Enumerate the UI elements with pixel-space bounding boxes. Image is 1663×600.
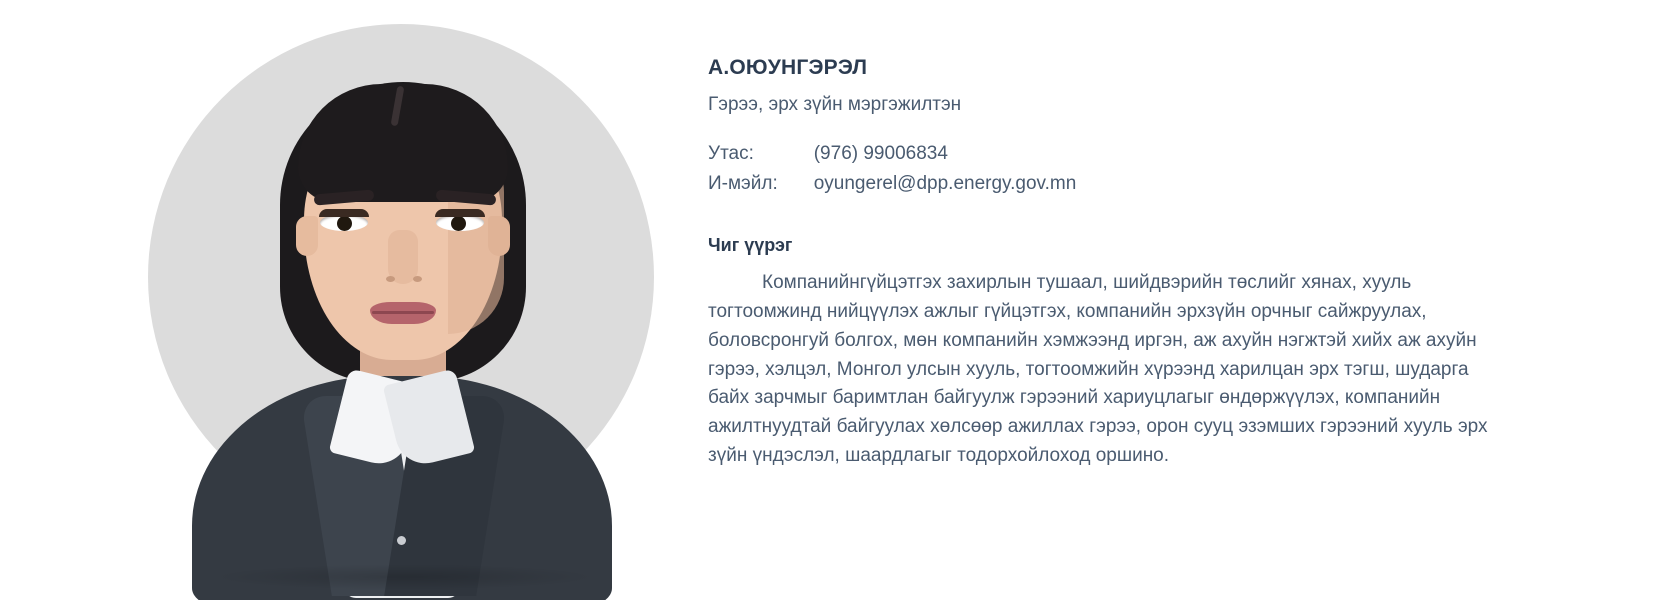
phone-label: Утас: — [708, 142, 814, 172]
ear-left-shape — [296, 216, 318, 256]
lip-line-shape — [372, 311, 434, 314]
profile-info: А.ОЮУНГЭРЭЛ Гэрээ, эрх зүйн мэргэжилтэн … — [708, 56, 1528, 471]
pupil-right-shape — [451, 216, 466, 231]
person-name: А.ОЮУНГЭРЭЛ — [708, 56, 1528, 80]
duties-heading: Чиг үүрэг — [708, 235, 1528, 257]
hair-front-shape — [298, 84, 508, 202]
shirt-button-shape — [397, 536, 406, 545]
phone-value: (976) 99006834 — [814, 142, 1077, 172]
nostril-right-shape — [413, 276, 422, 282]
nostril-left-shape — [386, 276, 395, 282]
email-value[interactable]: oyungerel@dpp.energy.gov.mn — [814, 172, 1077, 202]
eyelid-left-shape — [319, 209, 369, 217]
ear-right-shape — [488, 216, 510, 256]
pupil-left-shape — [337, 216, 352, 231]
contact-details: Утас: (976) 99006834 И-мэйл: oyungerel@d… — [708, 142, 1076, 201]
contact-row-phone: Утас: (976) 99006834 — [708, 142, 1076, 172]
duties-text: Компанийнгүйцэтгэх захирлын тушаал, шийд… — [708, 269, 1508, 471]
email-label: И-мэйл: — [708, 172, 814, 202]
contact-row-email: И-мэйл: oyungerel@dpp.energy.gov.mn — [708, 172, 1076, 202]
portrait-drop-shadow — [208, 564, 600, 590]
profile-card-page: А.ОЮУНГЭРЭЛ Гэрээ, эрх зүйн мэргэжилтэн … — [0, 0, 1663, 600]
person-role: Гэрээ, эрх зүйн мэргэжилтэн — [708, 94, 1528, 116]
portrait-photo — [148, 24, 654, 576]
portrait-block — [148, 24, 654, 576]
eyelid-right-shape — [435, 209, 485, 217]
